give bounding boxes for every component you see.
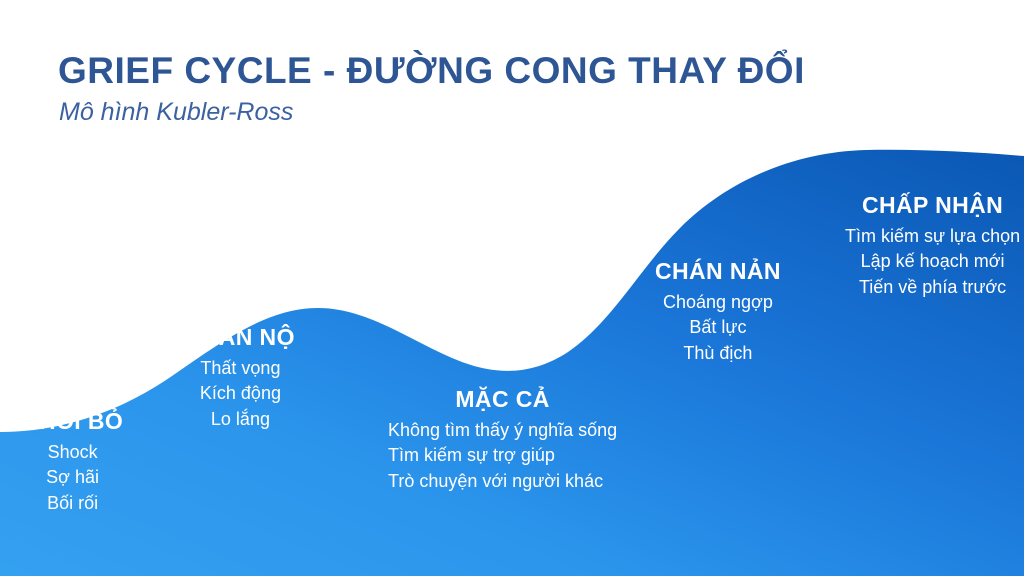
stage-items-phan-no: Thất vọng Kích động Lo lắng [186,356,295,432]
stage-title-mac-ca: MẶC CẢ [388,386,617,413]
stage-title-choi-bo: CHỐI BỎ [22,408,123,435]
stage-item: Bối rối [22,491,123,516]
page-subtitle: Mô hình Kubler-Ross [59,99,805,127]
stage-items-choi-bo: Shock Sợ hãi Bối rối [22,440,123,516]
stage-chap-nhan: CHẤP NHẬN Tìm kiếm sự lựa chọn Lập kế ho… [845,192,1020,300]
stage-choi-bo: CHỐI BỎ Shock Sợ hãi Bối rối [22,408,123,516]
stage-item: Bất lực [655,315,781,340]
stage-mac-ca: MẶC CẢ Không tìm thấy ý nghĩa sống Tìm k… [388,386,617,494]
stage-item: Tìm kiếm sự lựa chọn [845,224,1020,249]
stage-item: Tìm kiếm sự trợ giúp [388,443,617,468]
stage-item: Sợ hãi [22,465,123,490]
header: GRIEF CYCLE - ĐƯỜNG CONG THAY ĐỔI Mô hìn… [58,52,805,126]
stage-item: Shock [22,440,123,465]
stage-chan-nan: CHÁN NẢN Choáng ngợp Bất lực Thù địch [655,258,781,366]
stage-title-chan-nan: CHÁN NẢN [655,258,781,285]
stage-items-chap-nhan: Tìm kiếm sự lựa chọn Lập kế hoạch mới Ti… [845,224,1020,300]
stage-items-chan-nan: Choáng ngợp Bất lực Thù địch [655,290,781,366]
stage-item: Lo lắng [186,407,295,432]
stage-item: Lập kế hoạch mới [845,249,1020,274]
page-title: GRIEF CYCLE - ĐƯỜNG CONG THAY ĐỔI [58,52,805,91]
infographic-canvas: GRIEF CYCLE - ĐƯỜNG CONG THAY ĐỔI Mô hìn… [0,0,1024,576]
stage-title-chap-nhan: CHẤP NHẬN [845,192,1020,219]
stage-phan-no: PHẪN NỘ Thất vọng Kích động Lo lắng [186,324,295,432]
stage-item: Trò chuyện với người khác [388,469,617,494]
stage-title-phan-no: PHẪN NỘ [186,324,295,351]
stage-item: Choáng ngợp [655,290,781,315]
stage-item: Tiến về phía trước [845,275,1020,300]
stage-item: Không tìm thấy ý nghĩa sống [388,418,617,443]
stage-item: Thất vọng [186,356,295,381]
stage-item: Thù địch [655,341,781,366]
stage-item: Kích động [186,381,295,406]
stage-items-mac-ca: Không tìm thấy ý nghĩa sống Tìm kiếm sự … [388,418,617,494]
